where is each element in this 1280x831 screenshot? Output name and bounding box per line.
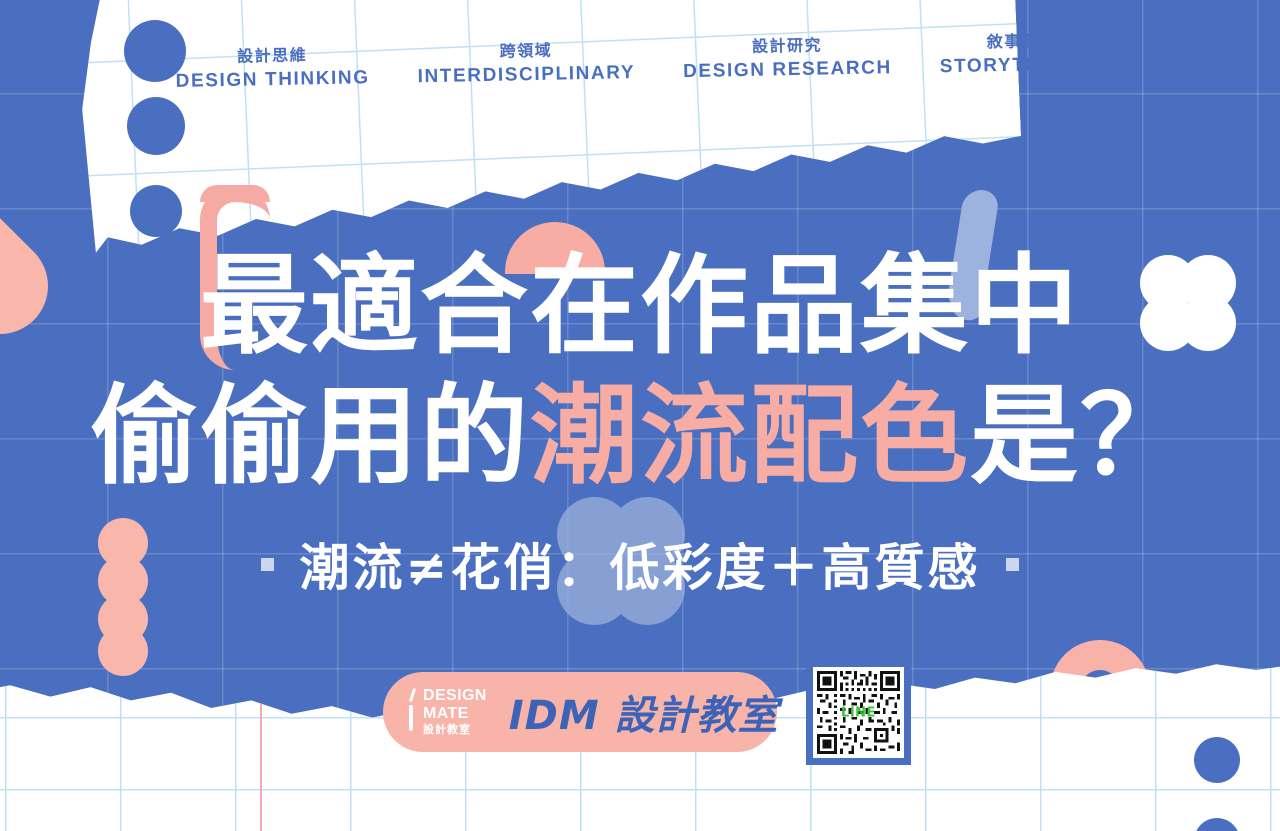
designmate-logo: DESIGN MATE 設計教室 bbox=[407, 688, 487, 736]
nav-label-en: STORYTELLING bbox=[940, 53, 1105, 79]
nav-label-zh: 敘事能力 bbox=[939, 31, 1104, 53]
headline-line-2-pink: 潮流配色 bbox=[530, 373, 970, 499]
blue-dot-2 bbox=[127, 97, 185, 155]
pink-dot-4 bbox=[98, 626, 148, 676]
logo-text-block: DESIGN MATE 設計教室 bbox=[423, 688, 487, 736]
nav-item-storytelling[interactable]: 敘事能力 STORYTELLING bbox=[939, 31, 1105, 79]
qr-inner: LINE bbox=[813, 667, 904, 758]
blue-dot-3 bbox=[130, 185, 182, 237]
nav-item-interdisciplinary[interactable]: 跨領域 INTERDISCIPLINARY bbox=[417, 40, 635, 89]
nav-label-en: INTERDISCIPLINARY bbox=[417, 62, 635, 89]
nav-item-design-research[interactable]: 設計研究 DESIGN RESEARCH bbox=[682, 35, 892, 84]
nav-label-en: DESIGN THINKING bbox=[176, 67, 370, 94]
blue-dot-4 bbox=[1194, 737, 1240, 783]
paper-margin-line bbox=[260, 651, 262, 831]
line-qr-code[interactable]: LINE bbox=[806, 660, 911, 765]
brand-pill[interactable]: DESIGN MATE 設計教室 IDM 設計教室 bbox=[383, 672, 777, 752]
logo-line-2: MATE bbox=[423, 706, 487, 722]
headline-line-1: 最適合在作品集中 bbox=[0, 252, 1280, 360]
bullet-square-right-icon bbox=[1006, 558, 1019, 571]
headline-line-2: 偷偷用的潮流配色是？ bbox=[0, 382, 1280, 490]
nav-label-en: DESIGN RESEARCH bbox=[683, 57, 892, 84]
nav-label-zh: 跨領域 bbox=[417, 40, 635, 63]
headline-line-2-white-a: 偷偷用的 bbox=[90, 373, 530, 499]
headline-block: 最適合在作品集中 偷偷用的潮流配色是？ bbox=[0, 252, 1280, 490]
subtitle-text: 潮流≠花俏：低彩度＋高質感 bbox=[300, 528, 981, 600]
logo-line-zh: 設計教室 bbox=[423, 725, 487, 736]
nav-label-zh: 設計研究 bbox=[682, 35, 891, 58]
brand-pill-title: IDM 設計教室 bbox=[509, 683, 779, 741]
poster-canvas: 設計思維 DESIGN THINKING 跨領域 INTERDISCIPLINA… bbox=[0, 0, 1280, 831]
logo-line-1: DESIGN bbox=[423, 688, 487, 704]
headline-line-2-white-b: 是？ bbox=[970, 373, 1190, 499]
bullet-square-left-icon bbox=[261, 558, 274, 571]
qr-line-label: LINE bbox=[813, 705, 904, 720]
subtitle-block: 潮流≠花俏：低彩度＋高質感 bbox=[0, 528, 1280, 600]
nav-item-design-thinking[interactable]: 設計思維 DESIGN THINKING bbox=[175, 45, 370, 94]
nav-label-zh: 設計思維 bbox=[175, 45, 369, 68]
logo-slash-bar-icon bbox=[407, 688, 419, 730]
